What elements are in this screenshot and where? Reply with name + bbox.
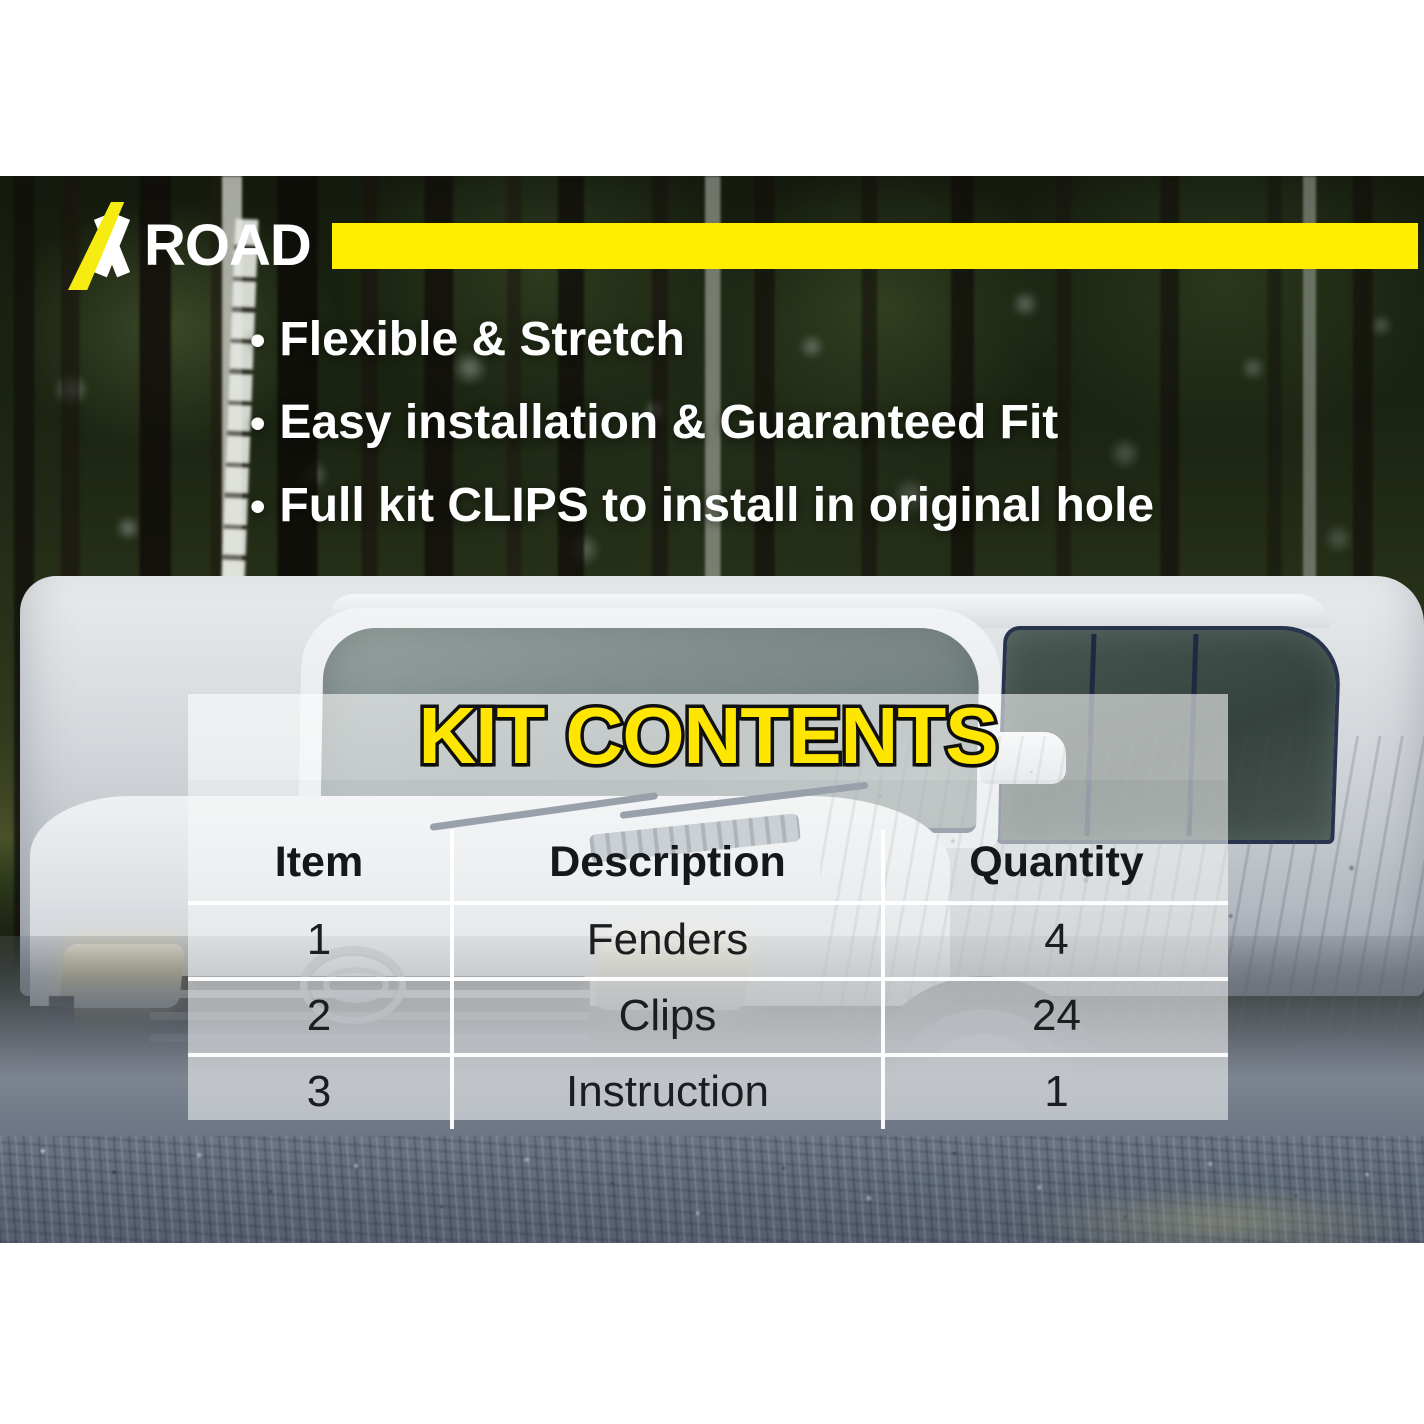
- brand-accent-bar: [332, 223, 1418, 269]
- column-header-description: Description: [452, 830, 883, 903]
- column-header-quantity: Quantity: [883, 830, 1228, 903]
- feature-item: • Full kit CLIPS to install in original …: [250, 482, 1260, 530]
- cell-description: Clips: [452, 979, 883, 1055]
- kit-contents-title: KIT CONTENTS: [188, 690, 1228, 782]
- cell-item: 3: [188, 1055, 452, 1129]
- bullet-icon: •: [250, 319, 265, 363]
- cell-item: 2: [188, 979, 452, 1055]
- table-row: 2 Clips 24: [188, 979, 1228, 1055]
- x-logo-icon: [78, 216, 146, 276]
- feature-label: Flexible & Stretch: [279, 316, 684, 364]
- feature-item: • Flexible & Stretch: [250, 316, 1260, 364]
- kit-contents-table: Item Description Quantity 1 Fenders 4 2 …: [188, 830, 1228, 1129]
- feature-item: • Easy installation & Guaranteed Fit: [250, 399, 1260, 447]
- feature-label: Full kit CLIPS to install in original ho…: [279, 482, 1154, 530]
- table-header-row: Item Description Quantity: [188, 830, 1228, 903]
- puddle: [1020, 1186, 1424, 1243]
- cell-quantity: 1: [883, 1055, 1228, 1129]
- product-infographic: ROAD • Flexible & Stretch • Easy install…: [0, 0, 1424, 1424]
- feature-list: • Flexible & Stretch • Easy installation…: [250, 316, 1260, 565]
- cell-quantity: 4: [883, 903, 1228, 979]
- bullet-icon: •: [250, 402, 265, 446]
- table-row: 1 Fenders 4: [188, 903, 1228, 979]
- cell-description: Fenders: [452, 903, 883, 979]
- brand-name: ROAD: [144, 217, 311, 275]
- bullet-icon: •: [250, 485, 265, 529]
- cell-quantity: 24: [883, 979, 1228, 1055]
- table-row: 3 Instruction 1: [188, 1055, 1228, 1129]
- feature-label: Easy installation & Guaranteed Fit: [279, 399, 1058, 447]
- brand-logo: ROAD: [78, 210, 311, 282]
- cell-description: Instruction: [452, 1055, 883, 1129]
- column-header-item: Item: [188, 830, 452, 903]
- cell-item: 1: [188, 903, 452, 979]
